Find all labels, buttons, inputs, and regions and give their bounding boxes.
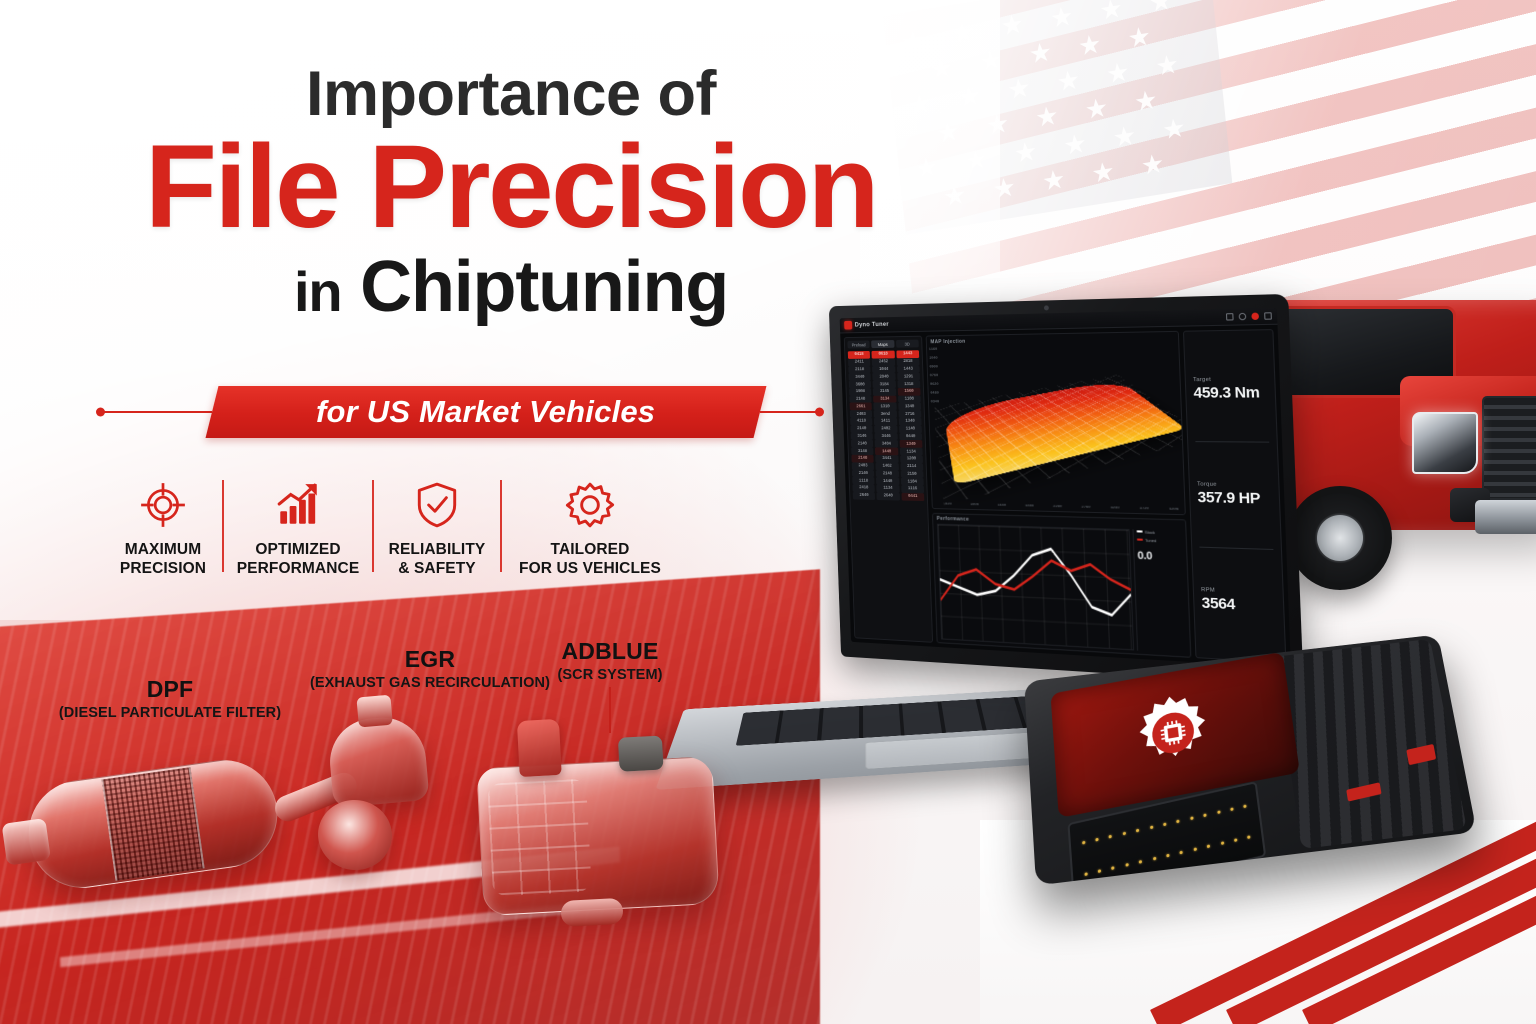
axis-tick: 1040 [929,357,937,361]
connector-pin [1177,819,1180,823]
table-cell[interactable]: 3441 [875,455,898,463]
map3d-title: MAP Injection [930,335,1174,345]
feature-maximum-precision: MAXIMUM PRECISION [104,478,222,578]
ecu-ridges [1274,639,1467,849]
table-cell[interactable]: 2148 [851,455,874,463]
map-table-rows[interactable]: 0418061814432411245228182118104414433440… [848,350,925,500]
table-row[interactable]: 190831451560 [849,388,920,396]
axis-tick: 0900 [929,365,937,369]
legend-label-tuned: Tuned [1145,537,1157,542]
axis-tick: 4200 [1169,507,1179,511]
axis-tick: 2760 [1081,505,1090,509]
feature-tailored-us-vehicles: TAILORED FOR US VEHICLES [502,478,678,578]
center-column: MAP Injection 11601040090007600620048003… [926,331,1192,658]
connector-pin [1137,828,1140,832]
table-cell[interactable]: 1411 [874,418,897,426]
connector-pin [1153,856,1156,860]
map3d-grid [933,375,1186,505]
map3d-panel[interactable]: MAP Injection 11601040090007600620048003… [926,331,1186,515]
stat-target-value: 459.3 Nm [1193,384,1267,402]
table-cell[interactable]: 1340 [899,418,922,426]
callout-dpf-title: DPF [40,676,300,703]
connector-pin [1112,866,1115,870]
connector-pin [1139,860,1142,864]
table-cell[interactable]: 2452 [872,358,895,366]
tab-maps[interactable]: Maps [871,340,894,348]
feature-label-tailored-us-vehicles: TAILORED FOR US VEHICLES [519,541,661,578]
table-cell[interactable]: 4118 [850,418,873,425]
table-cell[interactable]: 0418 [848,351,871,359]
egr-port [356,695,392,728]
axis-tick: 3240 [1110,506,1119,510]
connector-pin [1164,822,1167,826]
axis-tick: 620 [945,502,951,506]
table-cell[interactable]: 2114 [900,463,923,471]
ecu-body [1024,634,1477,885]
map3d-surface-stage [940,344,1178,499]
subtitle-ribbon: for US Market Vehicles [206,386,767,438]
dpf-inlet-neck [2,818,51,866]
callout-dpf: DPF (DIESEL PARTICULATE FILTER) [40,676,300,721]
record-icon[interactable] [1251,313,1259,320]
table-cell[interactable]: 2403 [852,462,875,470]
ribbon-line-right [760,411,820,413]
feature-label-maximum-precision: MAXIMUM PRECISION [120,541,206,578]
table-cell[interactable]: 2402 [874,425,897,433]
feature-label-reliability-safety: RELIABILITY & SAFETY [389,541,486,578]
performance-chart-title: Performance [937,516,969,523]
app-body: Preload Maps 3D 041806181443241124522818… [840,325,1291,668]
connector-pin [1204,813,1207,817]
axis-tick: 0340 [931,400,939,404]
performance-readout: 0.0 [1137,550,1182,564]
legend-label-stock: Stock [1145,529,1155,534]
stat-rpm-value: 3564 [1201,594,1276,615]
callout-dpf-subtitle: (DIESEL PARTICULATE FILTER) [40,705,300,721]
connector-pin [1217,810,1220,814]
table-cell[interactable]: 2661 [850,403,873,410]
titlebar-controls[interactable] [1226,312,1272,320]
axis-tick: 0760 [930,374,938,378]
legend-swatch-stock [1137,531,1143,533]
ribbon-dot-right [815,408,824,417]
feature-row: MAXIMUM PRECISION OPTIMIZED PERFORMANCE [104,478,820,590]
table-cell[interactable]: 1140 [899,425,922,433]
legend-swatch-tuned [1137,539,1143,541]
table-cell[interactable]: 1908 [849,388,872,396]
feature-reliability-safety: RELIABILITY & SAFETY [374,478,500,578]
table-cell[interactable]: 2818 [896,358,919,366]
table-cell[interactable]: 1340 [898,403,921,411]
table-cell[interactable]: 1462 [876,462,899,470]
headline-line-3-small: in [294,260,341,323]
map-table-tabs[interactable]: Preload Maps 3D [847,340,918,349]
power-icon[interactable] [1264,312,1272,320]
refresh-icon[interactable] [1239,313,1247,320]
table-cell[interactable]: 3145 [873,388,896,396]
headline-line-3-big: Chiptuning [360,247,728,327]
truck-rim [1317,515,1363,561]
axis-tick: 3720 [1139,507,1148,511]
adblue-tank [476,756,719,916]
table-cell[interactable]: 3end [874,410,897,417]
axis-tick: 1000 [970,503,979,507]
truck-body [1260,300,1536,530]
table-cell[interactable]: 1108 [898,395,921,403]
connector-pin [1194,847,1197,851]
table-cell[interactable]: 3146 [851,433,874,441]
tuning-software-screen: Dyno Tuner Preload Maps [840,308,1291,668]
table-row[interactable]: 266113101340 [850,403,921,411]
feature-label-optimized-performance: OPTIMIZED PERFORMANCE [237,541,360,578]
feature-divider-3 [500,480,502,572]
table-cell[interactable]: 3134 [873,395,896,403]
table-cell[interactable]: 3184 [873,380,896,388]
connector-pin [1180,850,1183,854]
table-row[interactable]: 214024021140 [850,425,921,433]
webcam-icon [1043,305,1048,310]
table-cell[interactable]: 0618 [872,351,895,359]
connector-pin [1207,844,1210,848]
connector-pin [1244,804,1247,808]
axis-tick: 2280 [1053,505,1062,509]
callout-adblue-title: ADBLUE [520,638,700,665]
map3d-y-axis: 1160104009000760062004800340 [929,348,939,404]
table-cell[interactable]: 2640 [853,492,876,500]
axis-tick: 0480 [930,392,938,396]
dpf-filter-mesh [102,767,205,880]
connector-pin [1167,853,1170,857]
connector-pin [1190,816,1193,820]
connector-pin [1098,869,1101,873]
adblue-outlet [560,898,623,927]
headline-block: Importance of File Precision in Chiptuni… [96,62,926,326]
tab-preload[interactable]: Preload [847,340,870,348]
table-row[interactable]: 264026400441 [853,492,925,501]
adblue-tank-ribs [487,778,591,897]
table-cell[interactable]: 2140 [850,425,873,433]
ecu-programming-tool [1010,630,1480,910]
callout-adblue: ADBLUE (SCR SYSTEM) [520,638,700,733]
callout-adblue-pointer [609,687,611,733]
connector-pin [1221,841,1224,845]
tab-3d[interactable]: 3D [896,340,919,348]
bar-chart-arrow-up-icon [273,478,323,532]
table-cell[interactable]: 2640 [877,492,900,500]
map-table-panel[interactable]: Preload Maps 3D 041806181443241124522818… [844,336,933,643]
feature-divider-2 [372,480,374,572]
map3d-x-axis: 62010001480180022802760324037204200 [945,502,1178,511]
legend-item-tuned: Tuned [1137,537,1182,544]
connector-pin [1109,834,1112,838]
table-cell[interactable]: 2148 [849,396,872,403]
axis-tick: 0620 [930,383,938,387]
gear-icon [565,478,615,532]
ecu-logo-panel [1050,652,1299,818]
table-cell[interactable]: 1318 [897,380,920,388]
table-row[interactable]: 24033end2716 [850,410,921,418]
truck-grille [1482,396,1536,500]
legend-item-stock: Stock [1137,529,1182,535]
ribbon-dot-left [96,408,105,417]
headline-line-2: File Precision [96,128,926,246]
table-cell[interactable]: 0441 [901,493,924,501]
feature-optimized-performance: OPTIMIZED PERFORMANCE [224,478,372,578]
stat-target-label: Target [1193,377,1267,384]
table-cell[interactable]: 1200 [900,455,923,463]
connector-pin [1082,840,1085,844]
axis-tick: 1160 [929,348,937,352]
table-cell[interactable]: 1310 [874,403,897,410]
subtitle-ribbon-row: for US Market Vehicles [100,384,820,440]
connector-pin [1248,835,1251,839]
truck-wheel [1288,486,1392,590]
table-cell[interactable]: 1560 [897,388,920,396]
subtitle-ribbon-text: for US Market Vehicles [316,394,655,430]
stat-torque: Torque 357.9 HP [1195,441,1273,548]
table-row[interactable]: 411814111340 [850,418,921,426]
connector-pin [1234,838,1237,842]
feature-divider-1 [222,480,224,572]
table-cell[interactable]: 0440 [899,433,922,441]
table-cell[interactable]: 3446 [875,433,898,441]
stat-target: Target 459.3 Nm [1191,337,1269,442]
headline-line-3: in Chiptuning [96,250,926,326]
connector-pin [1123,831,1126,835]
settings-icon[interactable] [1226,313,1234,320]
truck-headlight [1412,412,1478,474]
ribbon-line-left [100,411,212,413]
table-cell[interactable]: 2716 [898,410,921,418]
table-cell[interactable]: 2403 [850,410,873,417]
connector-pin [1150,825,1153,829]
adblue-filler-cap [618,736,664,772]
axis-tick: 1800 [1025,504,1034,508]
shield-check-icon [412,478,462,532]
truck-bumper [1475,500,1536,534]
stats-panel: Target 459.3 Nm Torque 357.9 HP RPM 3564 [1183,329,1287,663]
gear-with-microchip-icon [1126,685,1221,784]
stat-torque-label: Torque [1197,482,1271,490]
stat-torque-value: 357.9 HP [1197,489,1272,508]
connector-pin [1085,872,1088,876]
connector-pin [1126,863,1129,867]
callout-adblue-subtitle: (SCR SYSTEM) [520,667,700,683]
table-row[interactable]: 214831341108 [849,395,920,403]
poster-canvas: ★★ ★★ ★★ ★★ ★★ ★ ★★ ★★ ★★ ★★ ★★ ★ ★★ ★★ … [0,0,1536,1024]
laptop-lid: Dyno Tuner Preload Maps [829,294,1304,686]
connector-pin [1096,837,1099,841]
connector-pin [1231,807,1234,811]
axis-tick: 1480 [997,503,1006,507]
target-crosshair-icon [138,478,188,532]
table-cell[interactable]: 2411 [848,358,871,366]
headline-line-1: Importance of [96,62,926,126]
table-cell[interactable]: 3600 [849,381,872,389]
table-cell[interactable]: 1443 [896,350,919,358]
